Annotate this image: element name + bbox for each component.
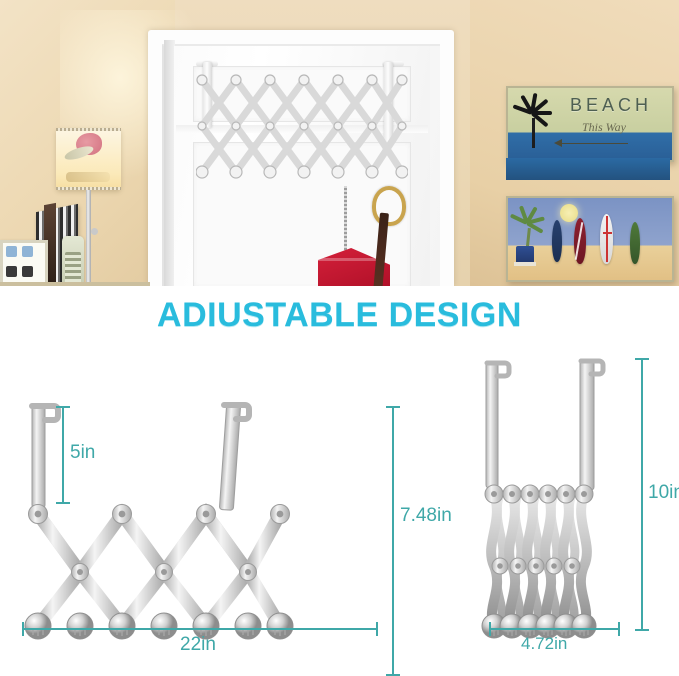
dim-472in-cap-right (618, 622, 620, 636)
dim-472in-line (489, 628, 619, 630)
photo-accordion-rack (196, 68, 408, 193)
dimension-diagrams: 5in 7.48in 22in (0, 350, 679, 667)
dim-label-22in: 22in (180, 634, 216, 656)
expanded-hook-bar-right (219, 404, 249, 511)
dim-5in-cap-bottom (56, 502, 70, 504)
surfboard-4 (630, 222, 640, 264)
beach-sign-sea-band (506, 158, 670, 180)
expanded-hook-bar-left (32, 406, 58, 508)
dim-label-748in: 7.48in (400, 505, 452, 527)
collapsed-mid-joints (492, 558, 580, 574)
bag-chain (344, 186, 347, 254)
collapsed-hook-bar-right (580, 360, 603, 490)
expanded-bottom-hooks (25, 613, 293, 639)
dim-22in-cap-right (376, 622, 378, 636)
keyring-gold-icon (372, 186, 406, 226)
sun-icon (560, 204, 578, 222)
beach-sign-arrow-line (556, 143, 628, 144)
dim-22in-cap-left (22, 622, 24, 636)
frame-photo-d (22, 266, 33, 277)
collapsed-hook-bar-left (486, 362, 509, 488)
dim-10in-line (641, 358, 643, 630)
phone-keypad (65, 252, 81, 284)
frame-photo-c (6, 266, 17, 277)
beach-sign-subtext: This Way (582, 120, 626, 135)
beach-chair-base (514, 262, 536, 266)
dim-748in-line (392, 407, 394, 675)
lamp-pole (86, 190, 91, 286)
product-infographic: BEACH This Way ADIUSTABLE DESIGN (0, 0, 679, 667)
collapsed-rack-diagram (470, 354, 630, 654)
lamp-shade-top-trim (56, 128, 121, 131)
dim-5in-cap-top (56, 406, 70, 408)
shelf-edge (0, 282, 150, 286)
expanded-rack-diagram (18, 374, 398, 654)
surfboard-3-cross-v (606, 216, 608, 262)
surfboard-1 (552, 220, 562, 262)
expanded-mid-joints (72, 564, 257, 581)
dim-10in-cap-bottom (635, 629, 649, 631)
dim-label-10in: 10in (648, 482, 679, 504)
frame-photo-b (22, 246, 33, 257)
frame-photo-a (6, 246, 17, 257)
expanded-top-joints (29, 505, 290, 524)
dim-label-472in: 4.72in (521, 634, 567, 654)
dim-5in-line (62, 407, 64, 503)
page-title: ADIUSTABLE DESIGN (0, 296, 679, 335)
dim-748in-cap-top (386, 406, 400, 408)
dim-label-5in: 5in (70, 442, 95, 464)
beach-sign-heading: BEACH (570, 95, 652, 116)
lamp-shade (56, 128, 121, 190)
lifestyle-photo: BEACH This Way (0, 0, 679, 286)
surfboard-art (506, 196, 674, 282)
dim-22in-line (22, 628, 377, 630)
lamp-script-motif (66, 172, 110, 182)
left-arrow-icon (554, 139, 562, 147)
dim-472in-cap-left (489, 622, 491, 636)
palm-trunk (532, 118, 535, 148)
lamp-switch-knob (91, 228, 98, 235)
dim-10in-cap-top (635, 358, 649, 360)
